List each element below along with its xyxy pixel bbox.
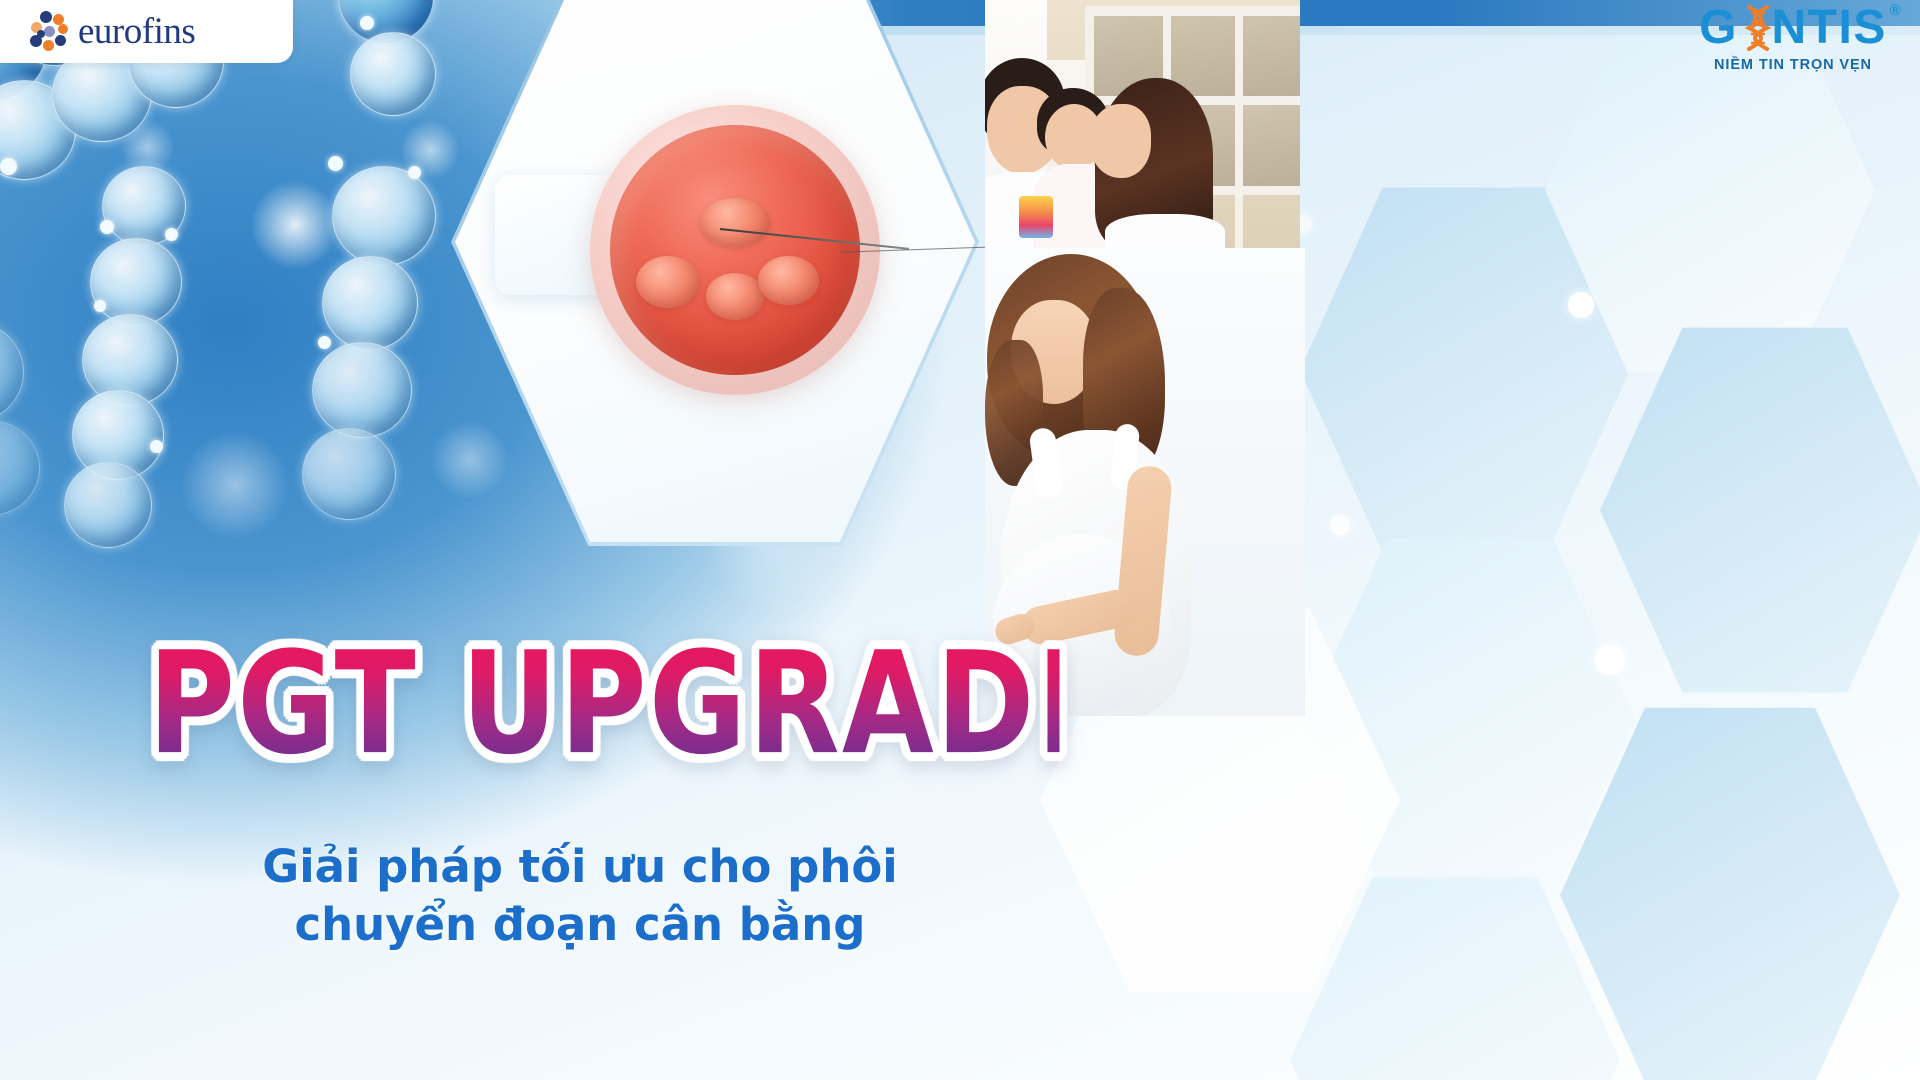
subtitle-line-1: Giải pháp tối ưu cho phôi [120, 838, 1040, 896]
blastomere [706, 273, 764, 319]
subtitle-line-2: chuyển đoạn cân bằng [120, 896, 1040, 954]
gentis-wordmark: GENTIS [1699, 4, 1887, 52]
page-title: PGT UPGRADE [148, 640, 1060, 770]
dna-helix-icon [1744, 4, 1772, 52]
embryo-illustration [590, 105, 880, 395]
gentis-letters-ntis: NTIS [1772, 1, 1887, 54]
banner-root: eurofins GENTIS ® NIỀM TIN TRỌN VẸN PGT … [0, 0, 1920, 1080]
headline-block: PGT UPGRADE [148, 640, 1008, 743]
embryo-cytoplasm [610, 125, 859, 374]
eurofins-logo[interactable]: eurofins [0, 0, 293, 63]
blastomere [636, 256, 700, 308]
eurofins-wordmark: eurofins [78, 10, 195, 53]
registered-trademark-icon: ® [1890, 2, 1901, 19]
blastomere [700, 198, 770, 247]
gentis-logo[interactable]: GENTIS ® NIỀM TIN TRỌN VẸN [1688, 4, 1898, 73]
subtitle-block: Giải pháp tối ưu cho phôi chuyển đoạn câ… [120, 838, 1040, 953]
photo-family [985, 0, 1300, 248]
gentis-letter-g: G [1699, 1, 1738, 54]
hexagon-node [1330, 515, 1350, 535]
blastomere [758, 256, 819, 305]
eurofins-mark-icon [28, 11, 69, 52]
gentis-tagline: NIỀM TIN TRỌN VẸN [1688, 57, 1898, 73]
hexagon-node [1568, 292, 1594, 318]
hexagon-node [1595, 645, 1625, 675]
